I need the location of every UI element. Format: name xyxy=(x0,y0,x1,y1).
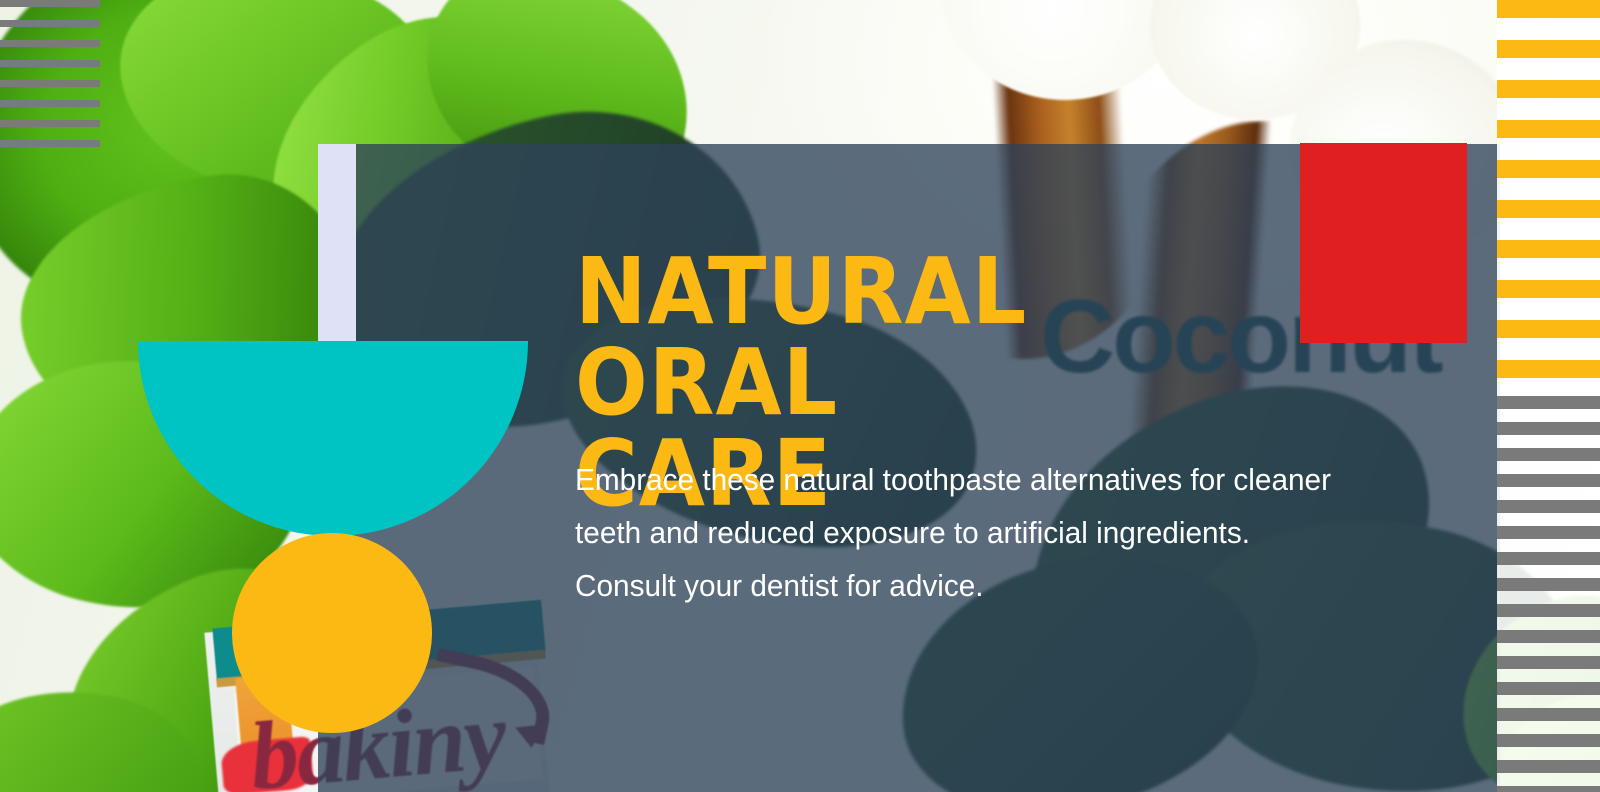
yellow-stripe-block-right xyxy=(1497,0,1600,396)
red-square-shape xyxy=(1300,143,1467,343)
natural-oral-care-banner: bakiny Coconut Natural Oral Care Embrace… xyxy=(0,0,1600,792)
gray-stripe-block-left xyxy=(0,0,100,160)
yellow-circle-shape xyxy=(232,533,432,733)
banner-description: Embrace these natural toothpaste alterna… xyxy=(575,453,1343,612)
lavender-accent-bar xyxy=(318,144,356,341)
gray-stripe-block-right xyxy=(1497,396,1600,792)
